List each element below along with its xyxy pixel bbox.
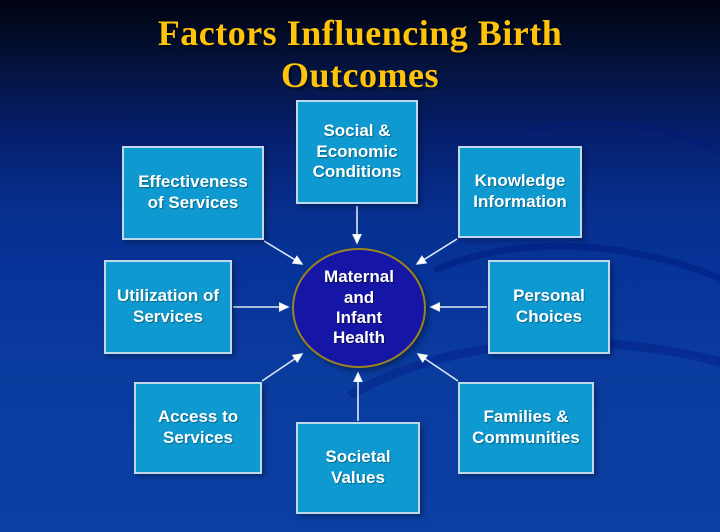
node-label: Access to Services — [158, 407, 238, 448]
node-access-to-services[interactable]: Access to Services — [134, 382, 262, 474]
node-maternal-and-infant-health[interactable]: Maternal and Infant Health — [292, 248, 426, 368]
node-label: Knowledge Information — [473, 171, 567, 212]
node-utilization-of-services[interactable]: Utilization of Services — [104, 260, 232, 354]
node-families-communities[interactable]: Families & Communities — [458, 382, 594, 474]
arrow-families-to-center — [418, 354, 458, 381]
node-label: Societal Values — [325, 447, 390, 488]
slide-title: Factors Influencing Birth Outcomes — [0, 12, 720, 97]
slide-canvas: Factors Influencing Birth Outcomes Socia… — [0, 0, 720, 532]
node-label: Effectiveness of Services — [138, 172, 248, 213]
node-effectiveness-of-services[interactable]: Effectiveness of Services — [122, 146, 264, 240]
arrow-access-to-center — [262, 354, 302, 381]
node-label: Personal Choices — [513, 286, 585, 327]
node-label: Social & Economic Conditions — [313, 121, 402, 183]
node-label: Families & Communities — [472, 407, 580, 448]
arrow-effectiveness-to-center — [264, 241, 302, 264]
node-label: Utilization of Services — [117, 286, 219, 327]
node-knowledge-information[interactable]: Knowledge Information — [458, 146, 582, 238]
node-personal-choices[interactable]: Personal Choices — [488, 260, 610, 354]
node-societal-values[interactable]: Societal Values — [296, 422, 420, 514]
arrow-knowledge-to-center — [417, 239, 457, 264]
center-node-label: Maternal and Infant Health — [324, 267, 394, 349]
node-social-economic-conditions[interactable]: Social & Economic Conditions — [296, 100, 418, 204]
